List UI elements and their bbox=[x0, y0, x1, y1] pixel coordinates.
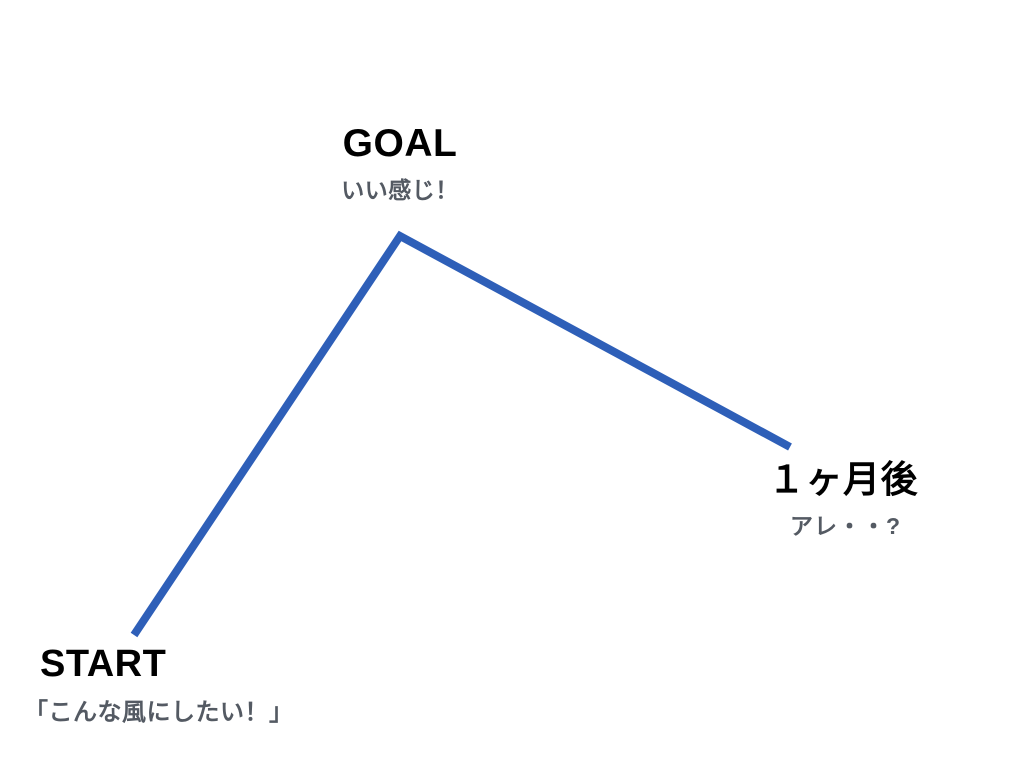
annotation-goal: GOAL いい感じ！ bbox=[0, 124, 800, 202]
goal-subtitle: いい感じ！ bbox=[0, 179, 800, 202]
annotation-start: START 「こんな風にしたい！」 bbox=[24, 645, 294, 725]
slide-canvas: GOAL いい感じ！ １ヶ月後 アレ・・? START 「こんな風にしたい！」 bbox=[0, 0, 1024, 768]
start-subtitle: 「こんな風にしたい！」 bbox=[24, 701, 294, 725]
annotation-one-month-later: １ヶ月後 アレ・・? bbox=[768, 461, 918, 538]
progress-polyline bbox=[134, 236, 790, 635]
goal-title: GOAL bbox=[0, 124, 800, 163]
one-month-later-title: １ヶ月後 bbox=[768, 461, 918, 498]
start-title: START bbox=[40, 645, 294, 683]
one-month-later-subtitle: アレ・・? bbox=[790, 515, 918, 538]
